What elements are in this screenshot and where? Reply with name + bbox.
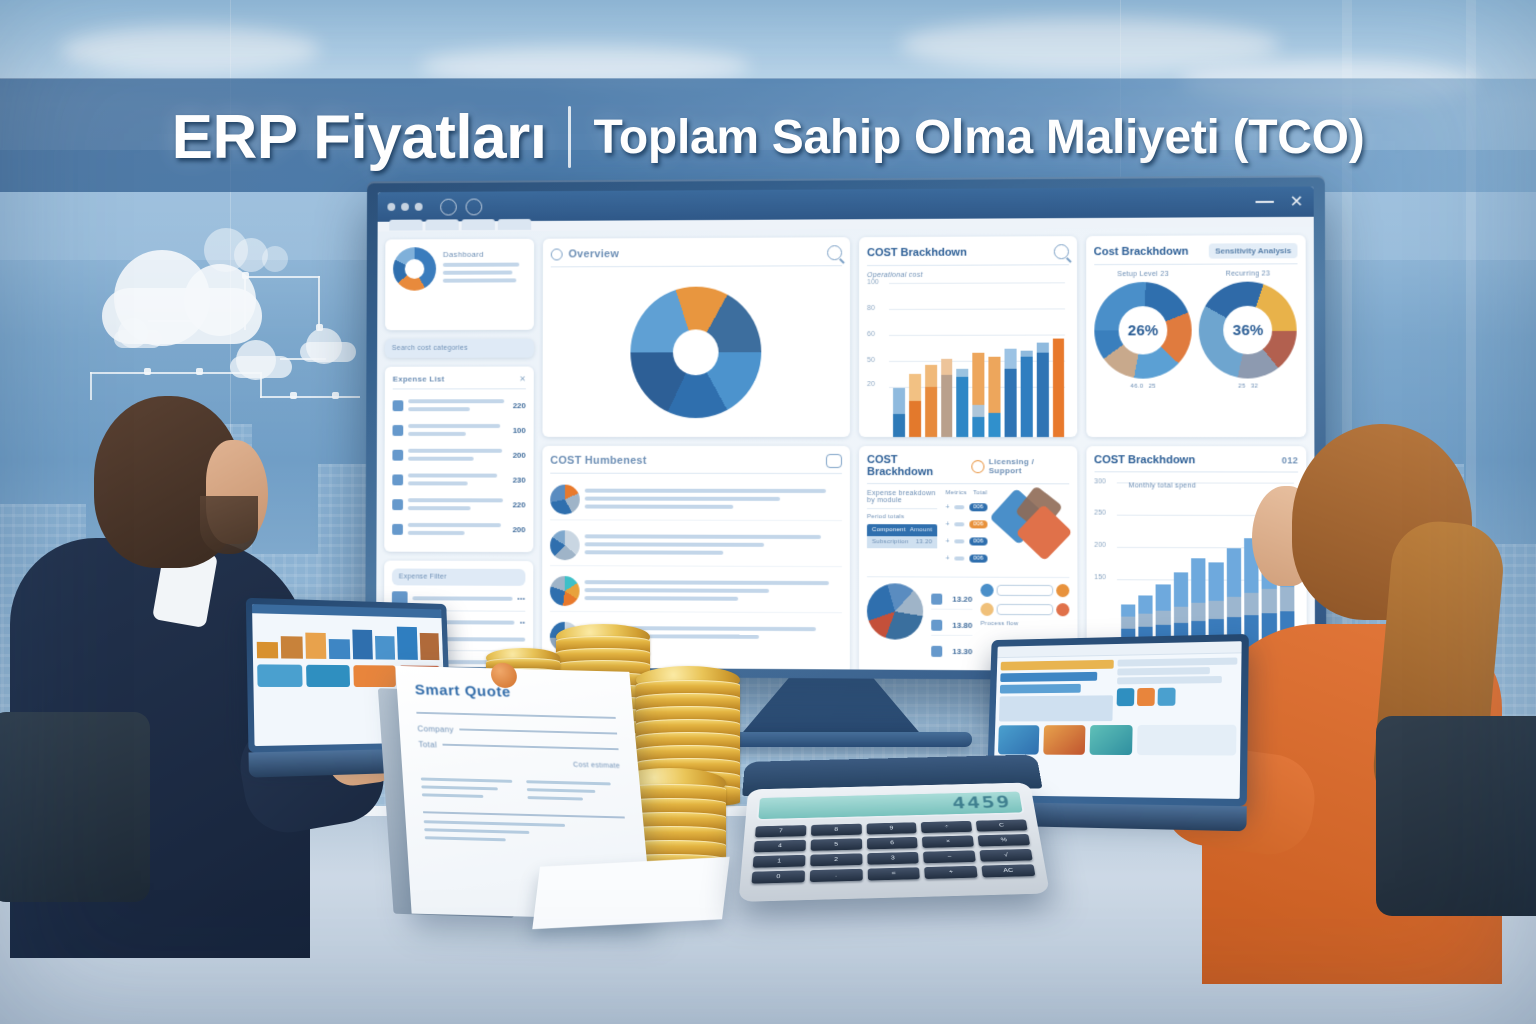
calculator-keypad[interactable]: 7 8 9 ÷ C 4 5 6 × % 1 2 3 − √ 0 . = + AC xyxy=(752,819,1036,883)
table-row-value: 13.30 xyxy=(952,646,972,655)
flow-caption: Process flow xyxy=(981,621,1069,627)
metric-tag: 006 xyxy=(969,555,987,563)
donut-chart-left: 26% xyxy=(1094,282,1192,379)
close-icon[interactable]: ✕ xyxy=(519,374,526,383)
filter-dropdown[interactable]: Expense Filter xyxy=(392,569,525,586)
bar-chart: 100 80 60 50 20 xyxy=(867,280,1069,437)
row-icon xyxy=(393,400,404,411)
row-icon xyxy=(931,645,942,656)
invoice-field-label: Total xyxy=(418,740,437,749)
calculator-display: 4459 xyxy=(756,790,1024,820)
search-icon[interactable] xyxy=(827,245,842,260)
y-tick: 250 xyxy=(1094,510,1106,517)
bar-group xyxy=(909,374,921,437)
list-item[interactable]: 220 xyxy=(392,494,525,514)
list-item[interactable]: 200 xyxy=(392,445,525,465)
list-item[interactable]: 200 xyxy=(392,519,525,539)
list-item-value: 100 xyxy=(513,426,526,435)
list-item[interactable]: 220 xyxy=(393,395,526,415)
table-row-value: 13.20 xyxy=(952,594,972,603)
dot-icon xyxy=(387,203,395,211)
dashboard-top-right: COST Brackhdown Operational cost 100 80 … xyxy=(859,235,1306,437)
circle-icon xyxy=(972,460,985,473)
panel-summary-title: COST Humbenest xyxy=(550,455,646,467)
beard xyxy=(200,496,258,554)
metric-tag: 006 xyxy=(969,537,987,545)
panel-trend-title: COST Brackhdown xyxy=(1094,454,1195,466)
y-tick: 80 xyxy=(867,305,875,312)
tab-item[interactable] xyxy=(462,219,495,230)
bar-group xyxy=(1005,349,1017,437)
table-col-header: Amount xyxy=(910,527,933,533)
filter-row-value: ••• xyxy=(517,595,525,602)
title-primary: ERP Fiyatları xyxy=(172,102,547,173)
bar-group xyxy=(893,388,905,437)
browser-tab-strip[interactable] xyxy=(389,219,531,231)
bar-series xyxy=(893,284,1065,437)
table-cell: Subscription xyxy=(872,539,909,545)
metrics-total: Total xyxy=(973,490,987,496)
y-tick: 100 xyxy=(867,279,879,286)
metric-row[interactable]: +006 xyxy=(945,535,987,547)
y-tick: 20 xyxy=(867,381,875,388)
calc-key[interactable]: = xyxy=(867,867,920,880)
circle-icon xyxy=(551,248,563,260)
screenshot-root: ERP Fiyatları Toplam Sahip Olma Maliyeti… xyxy=(0,0,1536,1024)
panel-bars-title: COST Brackhdown xyxy=(867,246,967,258)
metric-tag: 006 xyxy=(969,503,987,511)
list-item-value: 200 xyxy=(512,525,525,534)
sensitivity-badge[interactable]: Sensitivity Analysis xyxy=(1209,243,1298,259)
minimize-button[interactable] xyxy=(1255,201,1273,203)
invoice-slip xyxy=(532,857,729,929)
table-subtitle: Expense breakdown by module xyxy=(867,490,937,504)
office-chair-left xyxy=(0,712,150,902)
help-icon[interactable] xyxy=(826,454,842,468)
list-item[interactable] xyxy=(550,480,842,521)
invoice-note: Cost estimate xyxy=(419,758,620,770)
calc-key[interactable]: 9 xyxy=(866,822,917,834)
panel-profile-title: Dashboard xyxy=(443,250,526,259)
metrics-label: Metrics xyxy=(945,490,967,496)
metric-row[interactable]: +006 xyxy=(945,501,987,513)
row-icon xyxy=(931,619,942,630)
page-title: ERP Fiyatları Toplam Sahip Olma Maliyeti… xyxy=(0,88,1536,186)
y-tick: 300 xyxy=(1094,478,1106,485)
monitor-screen: ✕ xyxy=(376,187,1315,673)
overview-pie-chart xyxy=(630,286,761,418)
history-icon[interactable] xyxy=(466,198,483,215)
list-item[interactable]: 230 xyxy=(392,470,525,490)
panel-overview-title: Overview xyxy=(568,248,619,260)
search-icon[interactable] xyxy=(1053,244,1068,259)
invoice-title: Smart Quote xyxy=(414,682,614,704)
list-item[interactable] xyxy=(550,525,842,567)
calc-key[interactable]: 0 xyxy=(752,870,805,883)
title-secondary: Toplam Sahip Olma Maliyeti (TCO) xyxy=(593,110,1364,165)
search-placeholder: Search cost categories xyxy=(392,345,527,352)
calc-key[interactable]: √ xyxy=(980,849,1033,862)
row-pie-icon xyxy=(550,530,580,560)
panel-donuts-title: Cost Brackhdown xyxy=(1094,245,1189,257)
calc-key[interactable]: % xyxy=(978,834,1030,846)
desktop-monitor: ✕ xyxy=(365,175,1326,681)
table-row[interactable]: 13.80 xyxy=(931,615,972,636)
isometric-graphic xyxy=(995,490,1068,570)
cloud-wisp xyxy=(900,18,1280,72)
calc-key[interactable]: 6 xyxy=(867,837,918,850)
calc-key[interactable]: × xyxy=(922,835,974,848)
list-item[interactable] xyxy=(550,571,842,613)
donut-right-legend: 32 xyxy=(1251,384,1258,390)
calc-key[interactable]: 7 xyxy=(755,825,806,837)
close-button[interactable]: ✕ xyxy=(1290,192,1304,212)
row-icon xyxy=(392,474,403,485)
mini-donut-chart xyxy=(393,247,436,291)
table-pie-chart xyxy=(867,583,923,639)
panel-bars-subtitle: Operational cost xyxy=(867,271,1068,279)
row-icon xyxy=(392,499,403,510)
list-item-value: 220 xyxy=(513,401,526,410)
window-titlebar: ✕ xyxy=(378,187,1314,222)
office-chair-right xyxy=(1376,716,1536,916)
donut-left-legend: 25 xyxy=(1149,384,1156,390)
table-row[interactable]: 13.20 xyxy=(931,589,972,610)
bar-group xyxy=(989,357,1001,437)
panel-cost-breakdown-donuts: Cost Brackhdown Sensitivity Analysis Set… xyxy=(1086,235,1307,437)
calc-key[interactable]: 5 xyxy=(810,838,861,851)
calc-key[interactable]: ÷ xyxy=(921,821,972,833)
calc-key[interactable]: 8 xyxy=(811,824,862,836)
y-tick: 200 xyxy=(1094,542,1106,549)
panel-overview: Overview xyxy=(542,237,850,437)
panel-expense-list: Expense List ✕ 220 100 200 230 220 200 xyxy=(384,367,534,553)
bar-group xyxy=(1021,351,1033,437)
tab-item[interactable] xyxy=(389,220,422,231)
row-icon xyxy=(392,523,403,534)
calculator-display-value: 4459 xyxy=(951,794,1012,813)
table-row[interactable]: 13.30 xyxy=(931,641,972,661)
calc-key[interactable]: . xyxy=(810,869,863,882)
bar-group xyxy=(1036,343,1048,437)
donut-right-label: Recurring 23 xyxy=(1199,270,1297,277)
calc-key[interactable]: 4 xyxy=(754,840,806,853)
metric-row[interactable]: +006 xyxy=(945,552,987,564)
table-note: Period totals xyxy=(867,514,937,520)
calc-key[interactable]: 3 xyxy=(867,852,919,865)
calc-key[interactable]: 1 xyxy=(753,855,806,868)
calc-key[interactable]: C xyxy=(976,819,1028,831)
panel-cost-breakdown-bars: COST Brackhdown Operational cost 100 80 … xyxy=(859,236,1077,437)
list-item[interactable]: 100 xyxy=(392,420,525,440)
list-item-value: 230 xyxy=(513,475,526,484)
row-pie-icon xyxy=(550,485,580,515)
bar-group xyxy=(973,353,985,437)
donut-left-label: Setup Level 23 xyxy=(1094,271,1191,278)
calc-key[interactable]: + xyxy=(925,866,978,879)
dashboard-grid: Dashboard Search cost categories xyxy=(376,227,1315,672)
donut-left-legend: 46.0 xyxy=(1130,384,1143,390)
expense-list-title: Expense List xyxy=(393,375,445,384)
y-tick: 50 xyxy=(867,357,875,364)
calculator[interactable]: 4459 7 8 9 ÷ C 4 5 6 × % 1 2 3 − √ 0 . =… xyxy=(738,782,1049,901)
donut-chart-right: 36% xyxy=(1199,281,1297,378)
table-cell: 13.20 xyxy=(916,539,933,545)
monitor-bezel: ✕ xyxy=(365,175,1326,681)
expense-row-list: 220 100 200 230 220 200 xyxy=(392,395,526,539)
table-row-value: 13.80 xyxy=(952,620,972,629)
tab-item[interactable] xyxy=(498,219,531,230)
metric-tag: 006 xyxy=(969,520,987,528)
y-tick: 60 xyxy=(867,331,875,338)
table-col-header: Component xyxy=(872,527,906,533)
calc-key[interactable]: AC xyxy=(982,864,1036,877)
y-tick: 150 xyxy=(1094,574,1106,581)
calc-key[interactable]: − xyxy=(923,850,976,863)
panel-profile: Dashboard xyxy=(385,239,534,330)
donut-right-value: 36% xyxy=(1233,321,1264,338)
tab-item[interactable] xyxy=(425,219,458,230)
dot-icon xyxy=(401,203,409,211)
list-item-value: 220 xyxy=(512,500,525,509)
metric-row[interactable]: +006 xyxy=(945,518,987,530)
donut-left-value: 26% xyxy=(1128,322,1158,339)
list-item-value: 200 xyxy=(513,450,526,459)
refresh-icon[interactable] xyxy=(440,198,457,215)
bar-group xyxy=(1052,339,1064,438)
window-traffic-dots[interactable] xyxy=(387,203,422,211)
row-icon xyxy=(392,449,403,460)
invoice-field-label: Company xyxy=(417,724,454,734)
bar-group xyxy=(941,359,953,437)
search-input[interactable]: Search cost categories xyxy=(385,339,534,358)
panel-table-title: COST Brackhdown xyxy=(867,454,966,478)
bar-group xyxy=(957,369,969,437)
row-icon xyxy=(931,593,942,604)
cloud-wisp xyxy=(60,26,320,74)
row-icon xyxy=(392,425,403,436)
filter-label: Expense Filter xyxy=(399,573,519,580)
row-pie-icon xyxy=(550,576,580,606)
donut-right-wrap: Recurring 23 36% 25 32 xyxy=(1199,270,1297,389)
title-divider xyxy=(568,106,571,168)
panel-table-legend: Licensing / Support xyxy=(989,457,1069,475)
donut-left-wrap: Setup Level 23 26% 46.0 25 xyxy=(1094,271,1192,390)
dot-icon xyxy=(415,203,423,211)
donut-right-legend: 25 xyxy=(1238,384,1245,390)
calc-key[interactable]: 2 xyxy=(810,853,862,866)
bar-group xyxy=(925,365,937,437)
